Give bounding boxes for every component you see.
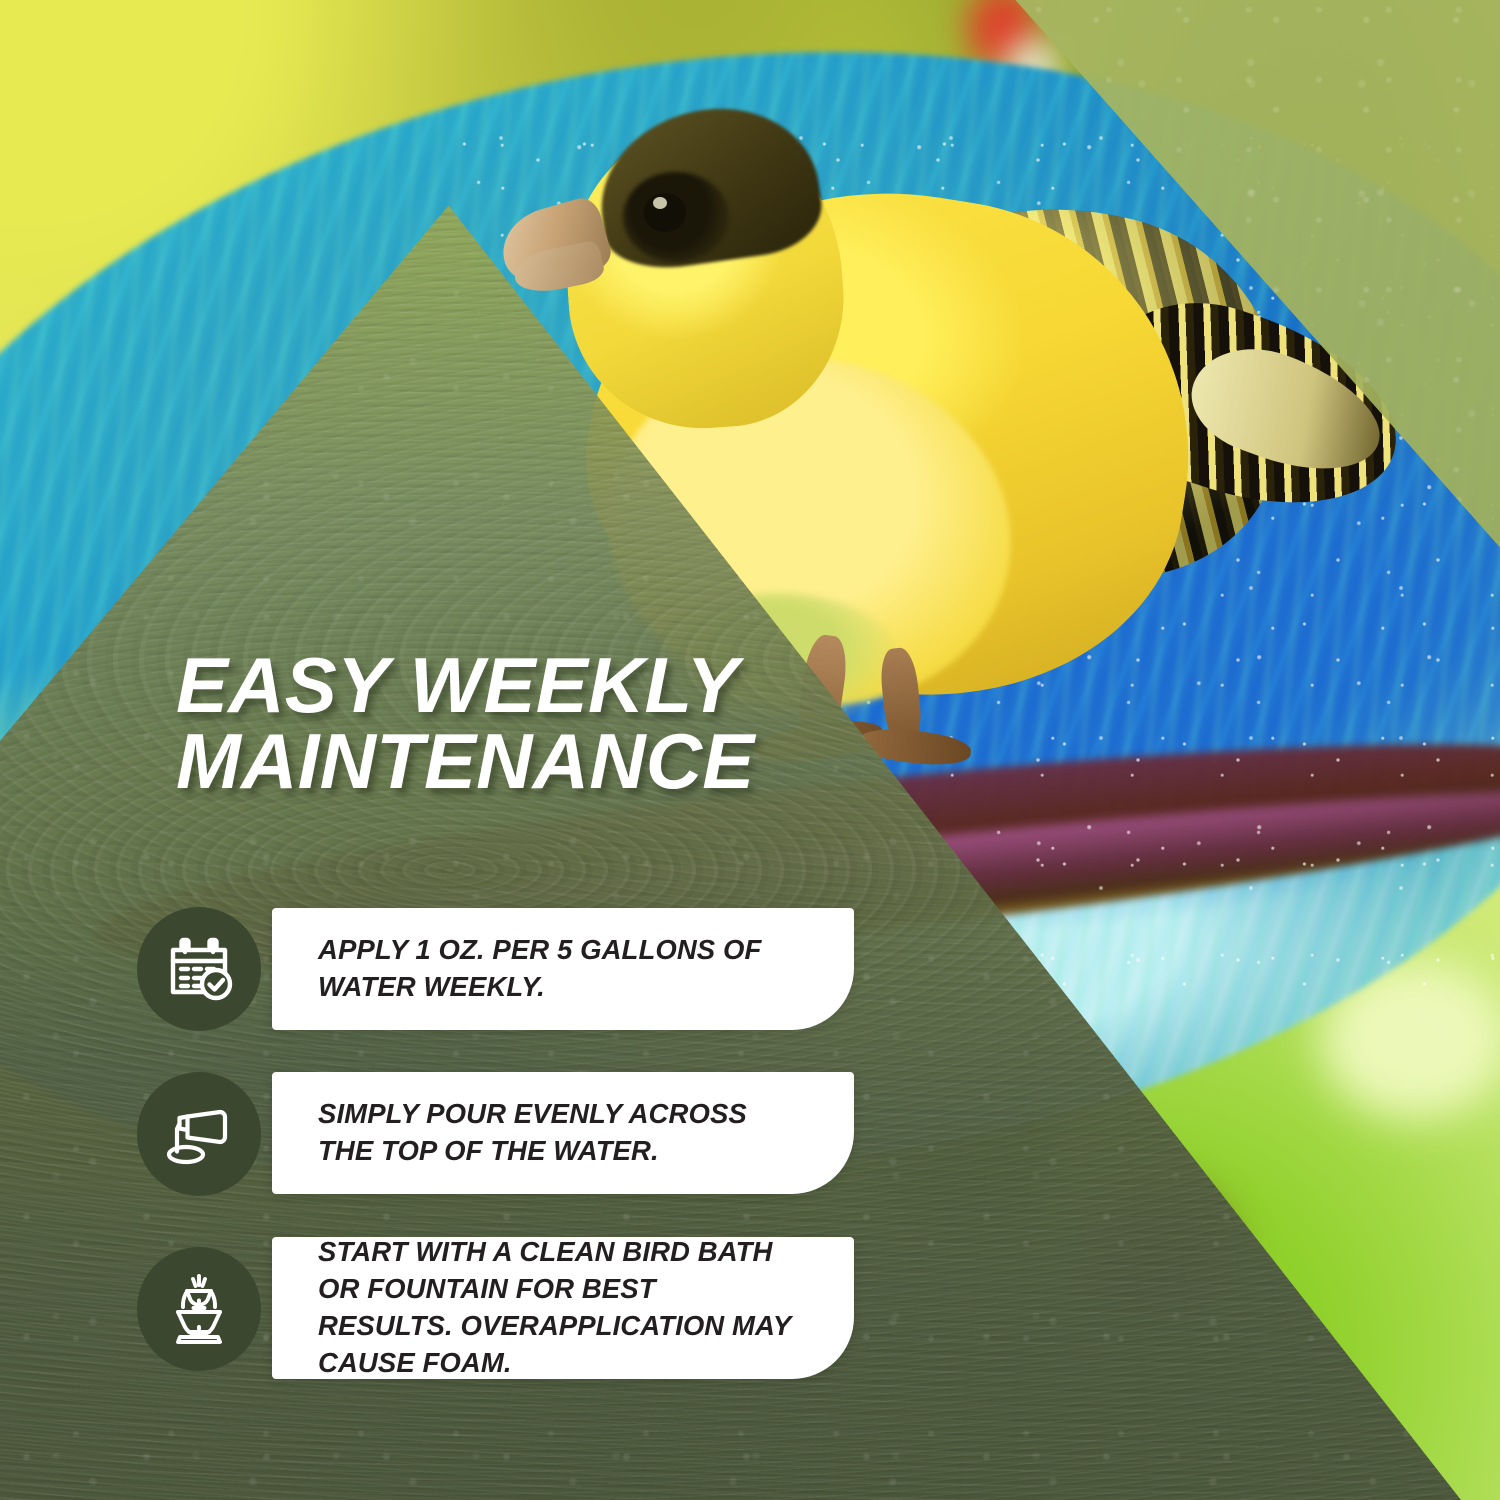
fountain-icon bbox=[162, 1272, 236, 1346]
instruction-text: START WITH A CLEAN BIRD BATH OR FOUNTAIN… bbox=[318, 1234, 794, 1381]
calendar-check-icon bbox=[164, 934, 234, 1004]
infographic-canvas: EASY WEEKLY MAINTENANCE APPLY 1 OZ. PER … bbox=[0, 0, 1500, 1500]
instruction-pill: SIMPLY POUR EVENLY ACROSS THE TOP OF THE… bbox=[272, 1072, 854, 1194]
instruction-pill: APPLY 1 OZ. PER 5 GALLONS OF WATER WEEKL… bbox=[272, 908, 854, 1030]
instruction-text: APPLY 1 OZ. PER 5 GALLONS OF WATER WEEKL… bbox=[318, 932, 794, 1006]
headline-line-2: MAINTENANCE bbox=[176, 724, 936, 800]
pouring-bottle-icon bbox=[164, 1099, 234, 1169]
instruction-badge bbox=[137, 907, 261, 1031]
instruction-badge bbox=[137, 1072, 261, 1196]
instruction-text: SIMPLY POUR EVENLY ACROSS THE TOP OF THE… bbox=[318, 1096, 794, 1170]
page-title: EASY WEEKLY MAINTENANCE bbox=[176, 648, 936, 799]
headline-line-1: EASY WEEKLY bbox=[176, 641, 739, 729]
instruction-pill: START WITH A CLEAN BIRD BATH OR FOUNTAIN… bbox=[272, 1237, 854, 1379]
instruction-badge bbox=[137, 1247, 261, 1371]
